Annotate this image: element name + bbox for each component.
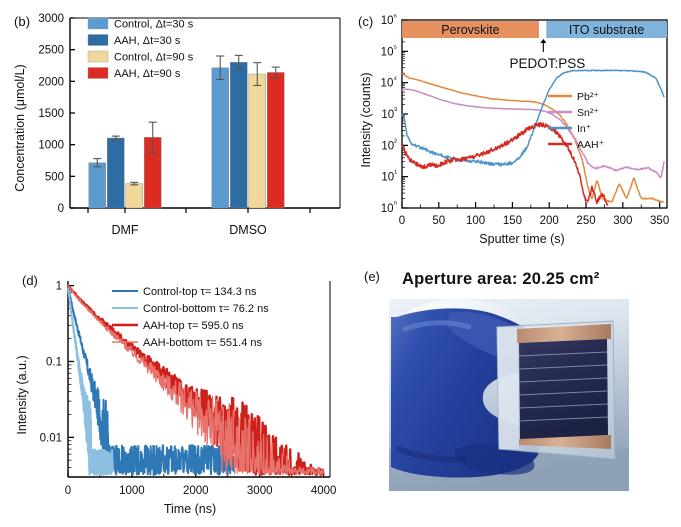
panel-d-svg: (d) Intensity (a.u.) Time (ns) 10.10.010…: [0, 255, 350, 527]
y-tick-label: 3000: [38, 13, 64, 25]
x-tick-label: 0: [65, 485, 71, 497]
x-tick-label: 300: [613, 215, 632, 227]
axis-tick-label: 10⁴: [381, 74, 398, 90]
legend-label-0: Control, Δt=30 s: [114, 19, 194, 31]
x-tick-label: 4000: [311, 485, 337, 497]
panel-e-device-photo: (e) Aperture area: 20.25 cm²: [352, 255, 681, 527]
y-tick-label: 500: [45, 171, 64, 183]
panel-b-tag: (b): [14, 14, 30, 29]
x-tick-label: 50: [432, 215, 445, 227]
panel-c-plot-area: 10⁰10¹10²10³10⁴10⁵10⁶0501001502002503003…: [381, 12, 670, 228]
pedot-pss-label: PEDOT:PSS: [509, 56, 585, 71]
y-tick-label: 1: [56, 281, 62, 293]
axis-tick-label: 10⁰: [381, 200, 398, 216]
bar-dmso-s2: [249, 74, 266, 208]
axis-tick-label: 10⁶: [381, 12, 397, 28]
y-tick-label: 1500: [38, 108, 64, 120]
panel-d-trpl-decay: (d) Intensity (a.u.) Time (ns) 10.10.010…: [0, 255, 350, 527]
photo-svg: [389, 299, 629, 491]
panel-d-plot-area: 10.10.0101000200030004000Control-top τ= …: [40, 281, 337, 497]
series-line-2: [402, 70, 664, 166]
panel-c-ylabel: Intensity (counts): [359, 72, 373, 167]
module-glass-edge: [497, 327, 519, 449]
legend-label-3: AAH-bottom τ= 551.4 ns: [143, 337, 262, 349]
legend-label-1: Sn²⁺: [577, 107, 599, 119]
panel-c-tag: (c): [358, 14, 373, 29]
legend-label-1: AAH, Δt=30 s: [114, 35, 181, 47]
panel-d-ylabel: Intensity (a.u.): [15, 355, 29, 434]
legend-label-0: Pb²⁺: [577, 91, 599, 103]
y-tick-label: 2500: [38, 45, 64, 57]
panel-c-xlabel: Sputter time (s): [479, 232, 564, 246]
series-line-0: [402, 73, 663, 202]
panel-b-bar-chart: (b) Concentration (μmol/L) 0500100015002…: [0, 0, 350, 255]
x-tick-label: 3000: [247, 485, 273, 497]
pedot-arrow-head: [540, 39, 546, 43]
bar-dmf-s0: [89, 163, 106, 208]
bar-dmso-s0: [212, 68, 229, 208]
panel-b-svg: (b) Concentration (μmol/L) 0500100015002…: [0, 0, 350, 255]
legend-label-2: In⁺: [577, 123, 591, 135]
panel-c-frame: [402, 20, 667, 208]
x-tick-label: 100: [466, 215, 485, 227]
region-label-ito: ITO substrate: [569, 23, 645, 37]
panel-e-title: Aperture area: 20.25 cm²: [402, 270, 599, 289]
panel-b-plot-area: 050010001500200025003000DMFDMSOControl, …: [38, 13, 340, 237]
legend-label-3: AAH, Δt=90 s: [114, 68, 181, 80]
legend-swatch-2: [88, 51, 108, 62]
y-tick-label: 2000: [38, 76, 64, 88]
bar-dmf-s2: [126, 184, 143, 208]
x-tick-label: 2000: [183, 485, 209, 497]
x-category-label: DMSO: [229, 223, 267, 237]
y-tick-label: 0.1: [46, 356, 62, 368]
bar-dmso-s3: [267, 72, 284, 208]
legend-swatch-0: [88, 18, 108, 29]
x-tick-label: 0: [399, 215, 405, 227]
legend-label-0: Control-top τ= 134.3 ns: [143, 286, 257, 298]
legend-swatch-3: [88, 68, 108, 79]
x-tick-label: 250: [576, 215, 595, 227]
panel-c-sims-profile: (c) Intensity (counts) Sputter time (s) …: [352, 0, 681, 255]
bar-dmso-s1: [230, 62, 247, 208]
x-tick-label: 200: [540, 215, 559, 227]
region-label-perovskite: Perovskite: [441, 23, 499, 37]
panel-d-xlabel: Time (ns): [164, 502, 216, 516]
y-tick-label: 0: [58, 203, 64, 215]
panel-d-tag: (d): [22, 273, 38, 288]
panel-e-tag: (e): [364, 269, 380, 284]
legend-label-2: AAH-top τ= 595.0 ns: [143, 320, 244, 332]
x-tick-label: 1000: [119, 485, 145, 497]
x-tick-label: 150: [503, 215, 522, 227]
y-tick-label: 0.01: [40, 432, 62, 444]
panel-b-ylabel: Concentration (μmol/L): [13, 64, 27, 191]
x-tick-label: 350: [650, 215, 669, 227]
axis-tick-label: 10³: [381, 106, 397, 122]
axis-tick-label: 10¹: [381, 168, 397, 184]
panel-c-svg: (c) Intensity (counts) Sputter time (s) …: [352, 0, 681, 255]
axis-tick-label: 10²: [381, 137, 397, 153]
legend-swatch-1: [88, 35, 108, 46]
legend-label-3: AAH⁺: [577, 139, 604, 151]
legend-label-2: Control, Δt=90 s: [114, 52, 194, 64]
x-category-label: DMF: [111, 223, 138, 237]
legend-label-1: Control-bottom τ= 76.2 ns: [143, 303, 269, 315]
y-tick-label: 1000: [38, 140, 64, 152]
solar-module: [497, 321, 615, 459]
bar-dmf-s1: [107, 138, 124, 208]
axis-tick-label: 10⁵: [381, 43, 397, 59]
device-photograph: [389, 299, 629, 491]
